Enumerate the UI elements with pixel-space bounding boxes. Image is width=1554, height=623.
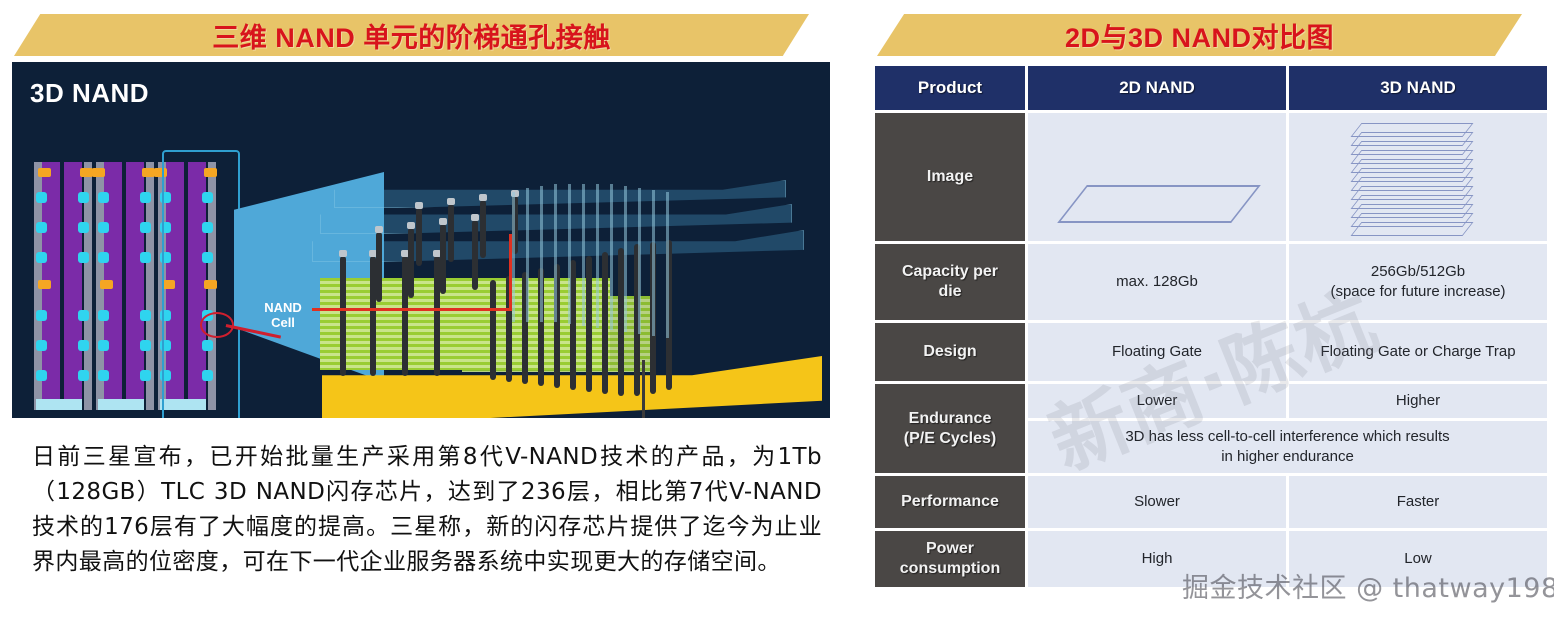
left-paragraph: 日前三星宣布，已开始批量生产采用第8代V-NAND技术的产品，为1Tb（128G…: [32, 440, 822, 580]
cell-endurance-note-line2: in higher endurance: [1028, 447, 1547, 467]
cell-3d-capacity: 256Gb/512Gb (space for future increase): [1289, 244, 1547, 320]
row-label-capacity-line2: die: [875, 282, 1025, 302]
cell-3d-capacity-line1: 256Gb/512Gb: [1289, 262, 1547, 282]
cell-3d-image: [1289, 113, 1547, 241]
row-label-power-line2: consumption: [875, 559, 1025, 579]
cell-2d-design: Floating Gate: [1028, 323, 1286, 381]
three-d-block: [312, 174, 830, 418]
table-header-row: Product 2D NAND 3D NAND: [875, 66, 1547, 110]
left-banner-title: 三维 NAND 单元的阶梯通孔接触: [14, 14, 809, 56]
table-row: Endurance (P/E Cycles) Lower Higher: [875, 384, 1547, 418]
row-label-power-line1: Power: [875, 539, 1025, 559]
three-d-nand-stack-icon: [1289, 113, 1547, 241]
nand-cell-label: NAND Cell: [248, 300, 318, 330]
cell-2d-power: High: [1028, 531, 1286, 587]
figure-label: 3D NAND: [30, 78, 149, 109]
right-panel: 2D与3D NAND对比图 Product 2D NAND 3D NAND Im…: [845, 0, 1554, 623]
row-label-power: Power consumption: [875, 531, 1025, 587]
cell-2d-image: [1028, 113, 1286, 241]
header-2d-nand: 2D NAND: [1028, 66, 1286, 110]
three-d-nand-figure: 3D NAND: [12, 62, 830, 418]
selection-box: [162, 150, 240, 418]
nand-cell-label-line2: Cell: [248, 315, 318, 330]
table-row: Image: [875, 113, 1547, 241]
cell-3d-endurance: Higher: [1289, 384, 1547, 418]
header-3d-nand: 3D NAND: [1289, 66, 1547, 110]
row-label-capacity: Capacity per die: [875, 244, 1025, 320]
row-label-performance: Performance: [875, 476, 1025, 528]
row-label-image: Image: [875, 113, 1025, 241]
left-panel: 三维 NAND 单元的阶梯通孔接触 3D NAND: [0, 0, 845, 623]
header-product: Product: [875, 66, 1025, 110]
cell-endurance-note: 3D has less cell-to-cell interference wh…: [1028, 421, 1547, 473]
right-banner-title: 2D与3D NAND对比图: [877, 14, 1522, 56]
cell-2d-capacity: max. 128Gb: [1028, 244, 1286, 320]
row-label-capacity-line1: Capacity per: [875, 262, 1025, 282]
row-label-design: Design: [875, 323, 1025, 381]
cell-3d-design: Floating Gate or Charge Trap: [1289, 323, 1547, 381]
substrate-crack: [642, 360, 705, 418]
table-row: Power consumption High Low: [875, 531, 1547, 587]
cell-2d-endurance: Lower: [1028, 384, 1286, 418]
row-label-endurance-line2: (P/E Cycles): [875, 429, 1025, 449]
row-label-endurance: Endurance (P/E Cycles): [875, 384, 1025, 473]
row-label-endurance-line1: Endurance: [875, 409, 1025, 429]
cell-3d-capacity-line2: (space for future increase): [1289, 282, 1547, 302]
cell-2d-performance: Slower: [1028, 476, 1286, 528]
table-row: Performance Slower Faster: [875, 476, 1547, 528]
cell-endurance-note-line1: 3D has less cell-to-cell interference wh…: [1028, 427, 1547, 447]
table-row: Capacity per die max. 128Gb 256Gb/512Gb …: [875, 244, 1547, 320]
cell-3d-power: Low: [1289, 531, 1547, 587]
table-row: Design Floating Gate Floating Gate or Ch…: [875, 323, 1547, 381]
cell-3d-performance: Faster: [1289, 476, 1547, 528]
two-d-nand-plate-icon: [1028, 113, 1286, 241]
nand-cell-label-line1: NAND: [248, 300, 318, 315]
comparison-table: Product 2D NAND 3D NAND Image: [872, 63, 1550, 590]
